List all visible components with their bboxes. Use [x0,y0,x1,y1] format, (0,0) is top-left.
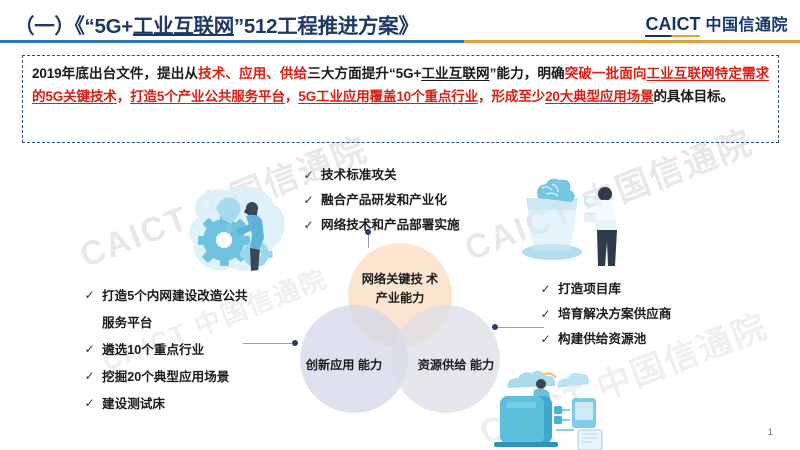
page-title-keyword: 工业互联网 [133,15,234,38]
callout-seg-8: ， [117,89,130,104]
list-item-label: 打造5个内网建设改造公共 服务平台 [102,283,248,337]
callout-seg-9: 打造5个产业公共服务平台 [130,89,285,104]
bullet-list-resource-supply-capability: ✓ 打造项目库 ✓ 培育解决方案供应商 ✓ 构建供给资源池 [540,277,671,352]
person-with-hologram-illustration [512,168,624,274]
list-item-label: 遴选10个重点行业 [102,337,204,364]
venn-label-resource-supply-capability: 资源供给 能力 [413,356,499,375]
caict-logo-mark: CAICT [645,14,700,37]
person-with-gears-illustration [176,178,294,282]
check-icon: ✓ [540,302,551,327]
list-item-label: 打造项目库 [558,277,621,302]
check-icon: ✓ [540,327,551,352]
header-divider-gold [464,40,800,43]
list-item-label: 技术标准攻关 [321,163,397,188]
callout-seg-5: ”能力，明确 [490,66,565,81]
check-icon: ✓ [84,337,95,362]
list-item-label: 网络技术和产品部署实施 [321,213,460,238]
list-item: ✓ 遴选10个重点行业 [84,337,248,364]
list-item: ✓ 融合产品研发和产业化 [303,188,460,213]
check-icon: ✓ [84,283,95,308]
slide-canvas: CAICT 中国信通院 CAICT 中国信通院 CAICT 中国信通院 CAIC… [0,0,800,450]
check-icon: ✓ [540,277,551,302]
connector-line-left [243,343,295,344]
summary-callout-text: 2019年底出台文件，提出从技术、应用、供给三大方面提升“5G+工业互联网”能力… [32,63,769,108]
connector-dot-left [292,340,298,346]
slide-header: （一）《“5G+工业互联网”512工程推进方案》 CAICT 中国信通院 [0,0,800,46]
page-number: 1 [768,427,773,438]
check-icon: ✓ [84,391,95,416]
caict-logo: CAICT 中国信通院 [645,11,788,37]
list-item-label: 建设测试床 [102,391,165,418]
header-divider [0,40,800,43]
callout-seg-14: 的具体目标。 [653,89,733,104]
page-title-prefix: （一）《“5G+ [14,15,133,38]
list-item-label: 融合产品研发和产业化 [321,188,447,213]
check-icon: ✓ [303,213,314,238]
page-title-suffix: ”512工程推进方案》 [234,15,419,38]
page-title: （一）《“5G+工业互联网”512工程推进方案》 [14,9,419,39]
summary-callout-box: 2019年底出台文件，提出从技术、应用、供给三大方面提升“5G+工业互联网”能力… [22,55,779,143]
callout-seg-4: 工业互联网 [421,66,489,81]
list-item-label: 培育解决方案供应商 [558,302,671,327]
venn-label-innovation-capability: 创新应用 能力 [301,356,387,375]
bullet-list-innovation-capability: ✓ 打造5个内网建设改造公共 服务平台 ✓ 遴选10个重点行业 ✓ 挖掘20个典… [84,283,248,418]
bullet-list-network-capability: ✓ 技术标准攻关 ✓ 融合产品研发和产业化 ✓ 网络技术和产品部署实施 [303,163,460,238]
caict-logo-name: 中国信通院 [705,11,788,35]
list-item: ✓ 网络技术和产品部署实施 [303,213,460,238]
list-item-label: 构建供给资源池 [558,327,646,352]
check-icon: ✓ [84,364,95,389]
list-item: ✓ 打造项目库 [540,277,671,302]
capability-venn-diagram: 网络关键技 术产业能力 创新应用 能力 资源供给 能力 [300,243,500,413]
callout-seg-12: ，形成至少 [478,89,545,104]
check-icon: ✓ [303,188,314,213]
list-item: ✓ 建设测试床 [84,391,248,418]
venn-circle-resource-supply-capability: 资源供给 能力 [392,305,500,413]
callout-seg-1: 2019年底出台文件，提出从 [32,66,198,81]
list-item: ✓ 构建供给资源池 [540,327,671,352]
callout-seg-6: 突破一批面向 [565,66,647,81]
list-item: ✓ 技术标准攻关 [303,163,460,188]
callout-seg-11: 5G工业应用覆盖10个重点行业 [298,89,478,104]
check-icon: ✓ [303,163,314,188]
venn-label-network-capability: 网络关键技 术产业能力 [357,270,443,308]
callout-seg-2: 技术、应用、供给 [198,66,307,81]
cloud-server-illustration [486,366,616,450]
list-item: ✓ 培育解决方案供应商 [540,302,671,327]
list-item: ✓ 打造5个内网建设改造公共 服务平台 [84,283,248,337]
list-item: ✓ 挖掘20个典型应用场景 [84,364,248,391]
header-divider-blue [0,40,464,43]
callout-seg-10: ， [285,89,298,104]
list-item-label: 挖掘20个典型应用场景 [102,364,229,391]
callout-seg-13: 20大典型应用场景 [545,89,653,104]
callout-seg-3: 三大方面提升“5G+ [307,66,421,81]
connector-dot-right [492,324,498,330]
connector-line-right [494,327,544,328]
